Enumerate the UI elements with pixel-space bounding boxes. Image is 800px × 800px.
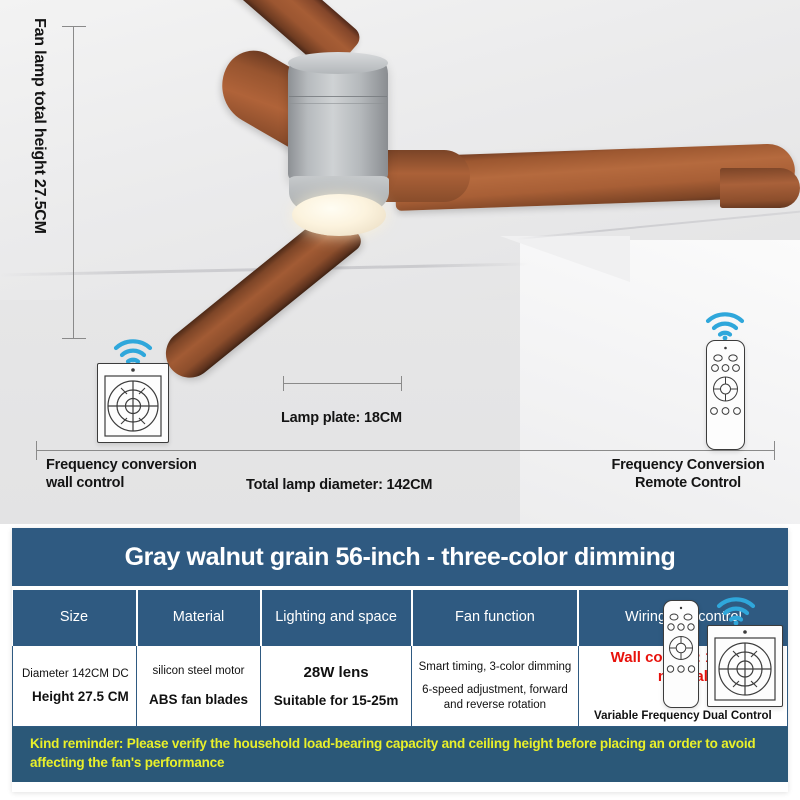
lamp-plate-label: Lamp plate: 18CM [281,410,402,426]
wall-control-grille-icon [98,364,168,442]
height-dimension-line [73,26,74,338]
fan-light-lens [292,194,386,236]
wall-control-caption: Frequency conversion wall control [46,457,197,492]
product-infographic: Fan lamp total height 27.5CM Lamp plate:… [0,0,800,800]
column-header-size: Size [13,590,137,646]
product-photo-area: Fan lamp total height 27.5CM Lamp plate:… [0,0,800,524]
cell-fan-function: Smart timing, 3-color dimming 6-speed ad… [412,646,579,727]
wall-control-grille-icon-panel [708,626,782,706]
cell-material-line2: ABS fan blades [142,691,255,709]
cell-material: silicon steel motor ABS fan blades [137,646,261,727]
total-diameter-tick-right [774,441,775,460]
remote-control-device-panel [663,600,699,708]
wall-control-device [97,363,169,443]
height-dimension-tick-top [62,26,86,27]
cell-size-line1: Diameter 142CM DC [18,667,131,682]
panel-title: Gray walnut grain 56-inch - three-color … [12,528,788,586]
cell-fan-line1: Smart timing, 3-color dimming [417,660,573,675]
column-header-material: Material [137,590,261,646]
cell-lighting-line2: Suitable for 15-25m [266,692,406,710]
remote-caption-line1: Frequency Conversion [611,457,764,473]
wall-control-caption-line1: Frequency conversion [46,457,197,473]
ceiling-fan-illustration [0,0,800,524]
total-diameter-label: Total lamp diameter: 142CM [246,477,432,493]
remote-control-caption: Frequency Conversion Remote Control [608,457,768,492]
cell-material-line1: silicon steel motor [142,664,255,679]
wall-control-caption-line2: wall control [46,475,124,491]
wall-control-device-panel [707,625,783,707]
remote-control-buttons-icon [707,341,744,449]
fan-blade-right-tip [720,168,800,208]
cell-fan-line2: 6-speed adjustment, forward and reverse … [417,683,573,713]
column-header-fan: Fan function [412,590,579,646]
lamp-plate-tick-right [401,376,402,391]
height-dimension-label: Fan lamp total height 27.5CM [30,18,48,348]
wifi-icon-panel [716,597,756,625]
cell-size-line2: Height 27.5 CM [18,688,131,706]
cell-lighting: 28W lens Suitable for 15-25m [261,646,412,727]
total-diameter-dimension-line [36,450,774,451]
fan-motor-seam-ring [289,96,387,104]
cell-lighting-line1: 28W lens [266,663,406,683]
remote-caption-line2: Remote Control [635,475,741,491]
cell-wiring-line2: Variable Frequency Dual Control [584,709,782,724]
total-diameter-tick-left [36,441,37,460]
fan-motor-top-cap [288,52,388,74]
remote-control-device [706,340,745,450]
lamp-plate-dimension-line [283,383,401,384]
height-dimension-tick-bottom [62,338,86,339]
remote-control-buttons-icon-panel [664,601,698,707]
cell-size: Diameter 142CM DC Height 27.5 CM [13,646,137,727]
lamp-plate-tick-left [283,376,284,391]
reminder-banner: Kind reminder: Please verify the househo… [12,727,788,781]
column-header-lighting: Lighting and space [261,590,412,646]
fan-motor-housing [288,56,388,182]
wifi-icon-remote [705,312,745,340]
